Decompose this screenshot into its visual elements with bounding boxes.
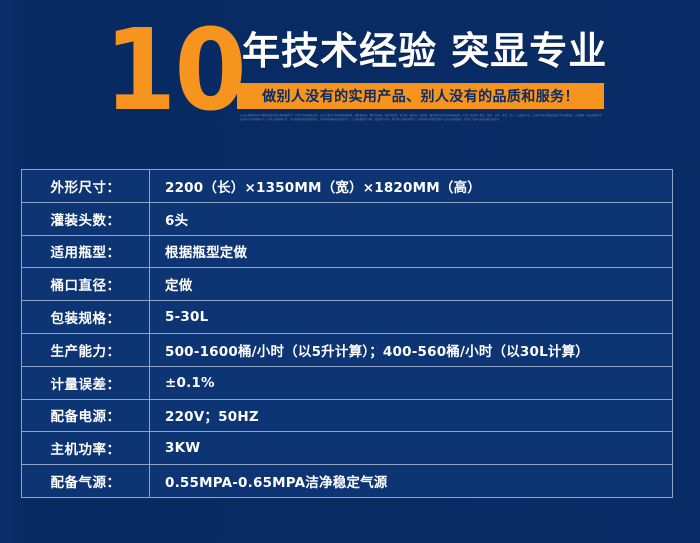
spec-value-cell: ±0.1% [150,366,673,399]
table-row: 桶口直径：定做 [22,268,673,301]
promo-header: 10 年技术经验 突显专业 做别人没有的实用产品、别人没有的品质和服务！ 公司以… [0,0,700,150]
sub-banner-text: 做别人没有的实用产品、别人没有的品质和服务！ [262,86,579,106]
spec-label-cell: 外形尺寸： [22,170,150,203]
table-row: 配备气源：0.55MPA-0.65MPA洁净稳定气源 [22,465,673,498]
years-number: 10 [104,14,245,126]
spec-value-cell: 5-30L [150,301,673,334]
spec-value-cell: 2200（长）×1350MM（宽）×1820MM（高） [150,170,673,203]
spec-label-cell: 生产能力： [22,333,150,366]
table-row: 外形尺寸：2200（长）×1350MM（宽）×1820MM（高） [22,170,673,203]
table-row: 包装规格：5-30L [22,301,673,334]
spec-value-cell: 3KW [150,432,673,465]
micro-description-text: 公司以雄厚的技术力量和优质的售后服务赢得了广大用户的信赖和支持，公司主要生产各类… [240,114,602,136]
spec-value-cell: 6头 [150,202,673,235]
headline-text: 年技术经验 突显专业 [242,29,607,73]
product-spec-banner: 10 年技术经验 突显专业 做别人没有的实用产品、别人没有的品质和服务！ 公司以… [0,0,700,543]
spec-label-cell: 适用瓶型： [22,235,150,268]
table-row: 主机功率：3KW [22,432,673,465]
table-row: 生产能力：500-1600桶/小时（以5升计算）；400-560桶/小时（以30… [22,333,673,366]
spec-label-cell: 配备气源： [22,465,150,498]
spec-label-cell: 桶口直径： [22,268,150,301]
spec-label-cell: 灌装头数： [22,202,150,235]
table-row: 配备电源：220V；50HZ [22,399,673,432]
table-row: 适用瓶型：根据瓶型定做 [22,235,673,268]
spec-label-cell: 包装规格： [22,301,150,334]
spec-value-cell: 500-1600桶/小时（以5升计算）；400-560桶/小时（以30L计算） [150,333,673,366]
spec-value-cell: 220V；50HZ [150,399,673,432]
spec-value-cell: 根据瓶型定做 [150,235,673,268]
table-row: 灌装头数：6头 [22,202,673,235]
specification-table: 外形尺寸：2200（长）×1350MM（宽）×1820MM（高）灌装头数：6头适… [21,169,673,498]
spec-value-cell: 0.55MPA-0.65MPA洁净稳定气源 [150,465,673,498]
sub-banner: 做别人没有的实用产品、别人没有的品质和服务！ [237,83,604,109]
spec-value-cell: 定做 [150,268,673,301]
spec-label-cell: 计量误差： [22,366,150,399]
table-row: 计量误差：±0.1% [22,366,673,399]
spec-label-cell: 配备电源： [22,399,150,432]
spec-label-cell: 主机功率： [22,432,150,465]
